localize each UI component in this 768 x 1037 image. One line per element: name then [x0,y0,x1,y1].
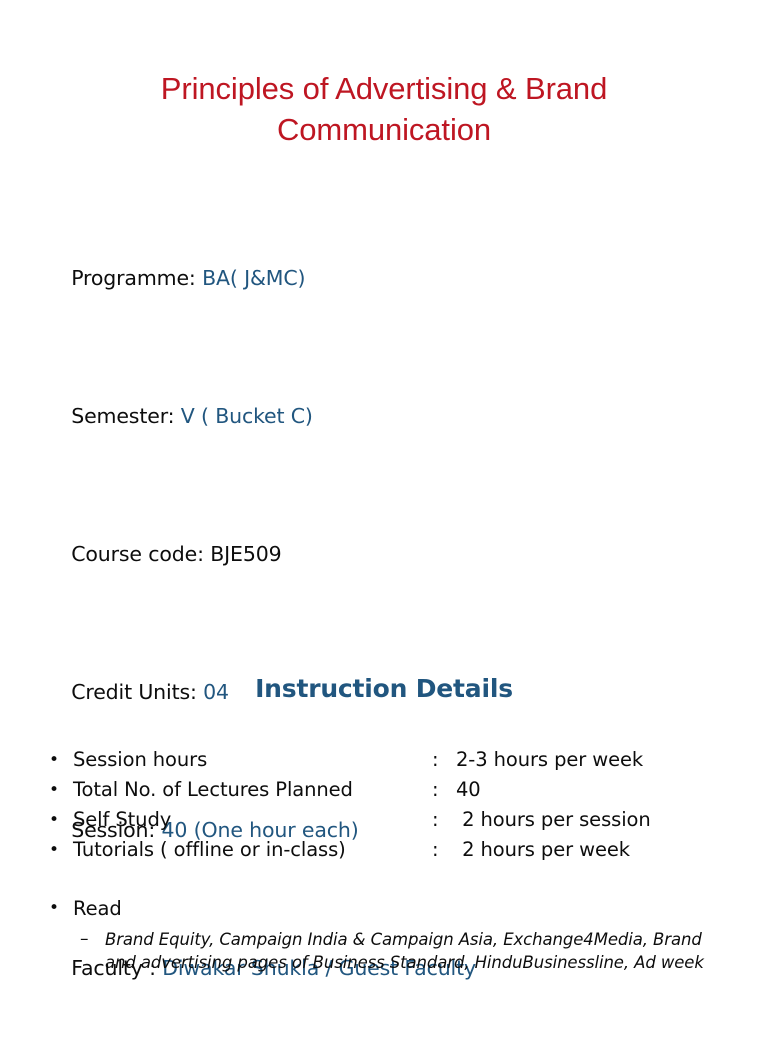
detail-label-tutorials: Tutorials ( offline or in-class) [73,835,346,865]
metadata-row-programme: Programme: BA( J&MC) [33,209,733,347]
detail-label-total-lectures: Total No. of Lectures Planned [73,775,353,805]
metadata-value-semester: V ( Bucket C) [181,404,313,428]
metadata-label-semester: Semester: [71,404,181,428]
metadata-row-course-code: Course code: BJE509 [33,485,733,623]
bullet-dot-icon: • [49,805,59,835]
table-row: • Tutorials ( offline or in-class) : 2 h… [42,835,742,865]
bullet-dot-icon: • [49,745,59,775]
detail-separator: : [432,745,438,775]
detail-separator: : [432,775,438,805]
detail-value-session-hours: 2-3 hours per week [456,745,643,775]
bullet-dot-icon: • [49,893,59,924]
detail-separator: : [432,805,438,835]
detail-separator: : [432,835,438,865]
instruction-details-list: • Session hours : 2-3 hours per week • T… [42,745,742,865]
read-label: Read [73,893,122,924]
metadata-value-programme: BA( J&MC) [202,266,305,290]
table-row: • Self Study : 2 hours per session [42,805,742,835]
bullet-dot-icon: • [49,775,59,805]
read-sub-item: – Brand Equity, Campaign India & Campaig… [42,928,752,974]
detail-label-self-study: Self Study [73,805,171,835]
list-item: • Read [42,893,752,924]
detail-value-self-study: 2 hours per session [456,805,651,835]
slide-title: Principles of Advertising & Brand Commun… [70,68,698,150]
slide-canvas: Principles of Advertising & Brand Commun… [0,0,768,1024]
metadata-label-programme: Programme: [71,266,202,290]
bullet-dot-icon: • [49,835,59,865]
table-row: • Session hours : 2-3 hours per week [42,745,742,775]
detail-value-total-lectures: 40 [456,775,481,805]
metadata-value-course-code: BJE509 [210,542,281,566]
read-block: • Read – Brand Equity, Campaign India & … [42,893,752,974]
metadata-label-course-code: Course code: [71,542,210,566]
detail-value-tutorials: 2 hours per week [456,835,630,865]
metadata-row-semester: Semester: V ( Bucket C) [33,347,733,485]
detail-label-session-hours: Session hours [73,745,207,775]
dash-bullet-icon: – [80,928,89,951]
instruction-details-heading: Instruction Details [0,672,768,706]
read-sources-text: Brand Equity, Campaign India & Campaign … [105,928,725,974]
table-row: • Total No. of Lectures Planned : 40 [42,775,742,805]
